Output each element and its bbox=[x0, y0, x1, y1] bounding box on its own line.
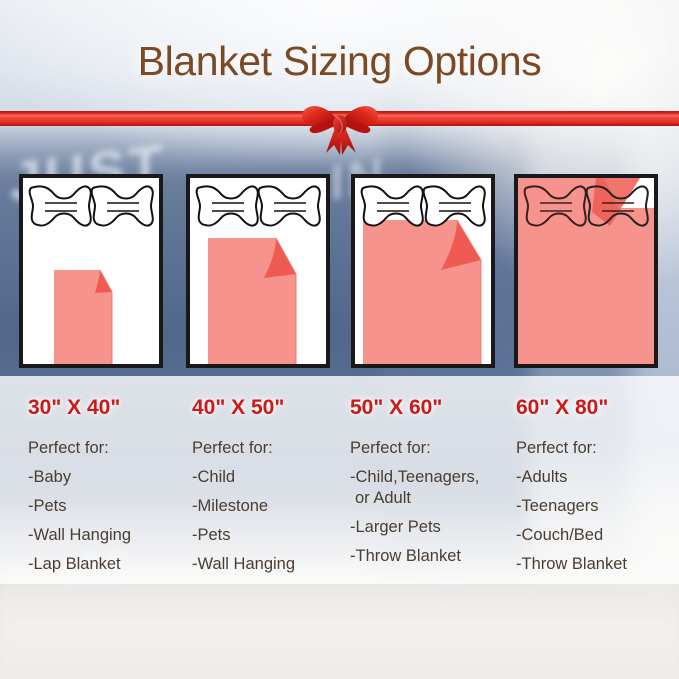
list-item: -Wall Hanging bbox=[192, 555, 357, 574]
perfect-for-label-1: Perfect for: bbox=[28, 439, 193, 458]
page-title: Blanket Sizing Options bbox=[0, 38, 679, 85]
bed-illustration-30x40 bbox=[19, 174, 163, 368]
blanket-large bbox=[363, 220, 481, 364]
uses-list-3: -Child,Teenagers, or Adult -Larger Pets … bbox=[350, 468, 515, 566]
list-item: -Child,Teenagers, bbox=[350, 468, 515, 487]
list-item: or Adult bbox=[350, 489, 515, 508]
pillow-right bbox=[259, 186, 320, 225]
list-item: -Pets bbox=[28, 497, 193, 516]
size-option-column-4: 60" X 80" Perfect for: -Adults -Teenager… bbox=[516, 376, 679, 574]
pillow-left bbox=[197, 186, 258, 225]
list-item: -Pets bbox=[192, 526, 357, 545]
list-item: -Child bbox=[192, 468, 357, 487]
uses-list-2: -Child -Milestone -Pets -Wall Hanging bbox=[192, 468, 357, 574]
perfect-for-label-2: Perfect for: bbox=[192, 439, 357, 458]
pillow-left bbox=[362, 186, 423, 225]
illustration-row bbox=[0, 174, 679, 370]
size-heading-4: 60" X 80" bbox=[516, 376, 679, 420]
list-item: -Larger Pets bbox=[350, 518, 515, 537]
size-option-column-2: 40" X 50" Perfect for: -Child -Milestone… bbox=[192, 376, 357, 574]
red-gift-bow-icon bbox=[296, 93, 384, 155]
list-item: -Baby bbox=[28, 468, 193, 487]
size-option-column-3: 50" X 60" Perfect for: -Child,Teenagers,… bbox=[350, 376, 515, 566]
pillow-right bbox=[92, 186, 153, 225]
uses-list-1: -Baby -Pets -Wall Hanging -Lap Blanket bbox=[28, 468, 193, 574]
pillow-right bbox=[424, 186, 485, 225]
sizing-info-panel: 30" X 40" Perfect for: -Baby -Pets -Wall… bbox=[0, 376, 679, 584]
blanket-small bbox=[54, 270, 112, 364]
perfect-for-label-3: Perfect for: bbox=[350, 439, 515, 458]
list-item: -Couch/Bed bbox=[516, 526, 679, 545]
perfect-for-label-4: Perfect for: bbox=[516, 439, 679, 458]
size-heading-2: 40" X 50" bbox=[192, 376, 357, 420]
list-item: -Adults bbox=[516, 468, 679, 487]
list-item: -Throw Blanket bbox=[350, 547, 515, 566]
infographic-canvas: JUST IN IN Z Blanket Sizing Options bbox=[0, 0, 679, 679]
uses-list-4: -Adults -Teenagers -Couch/Bed -Throw Bla… bbox=[516, 468, 679, 574]
pillow-left bbox=[30, 186, 91, 225]
blanket-medium bbox=[208, 238, 296, 364]
size-heading-3: 50" X 60" bbox=[350, 376, 515, 420]
list-item: -Throw Blanket bbox=[516, 555, 679, 574]
size-heading-1: 30" X 40" bbox=[28, 376, 193, 420]
bed-illustration-40x50 bbox=[186, 174, 330, 368]
list-item: -Milestone bbox=[192, 497, 357, 516]
size-option-column-1: 30" X 40" Perfect for: -Baby -Pets -Wall… bbox=[28, 376, 193, 574]
bed-illustration-60x80 bbox=[514, 174, 658, 368]
list-item: -Wall Hanging bbox=[28, 526, 193, 545]
list-item: -Lap Blanket bbox=[28, 555, 193, 574]
list-item: -Teenagers bbox=[516, 497, 679, 516]
bed-illustration-50x60 bbox=[351, 174, 495, 368]
